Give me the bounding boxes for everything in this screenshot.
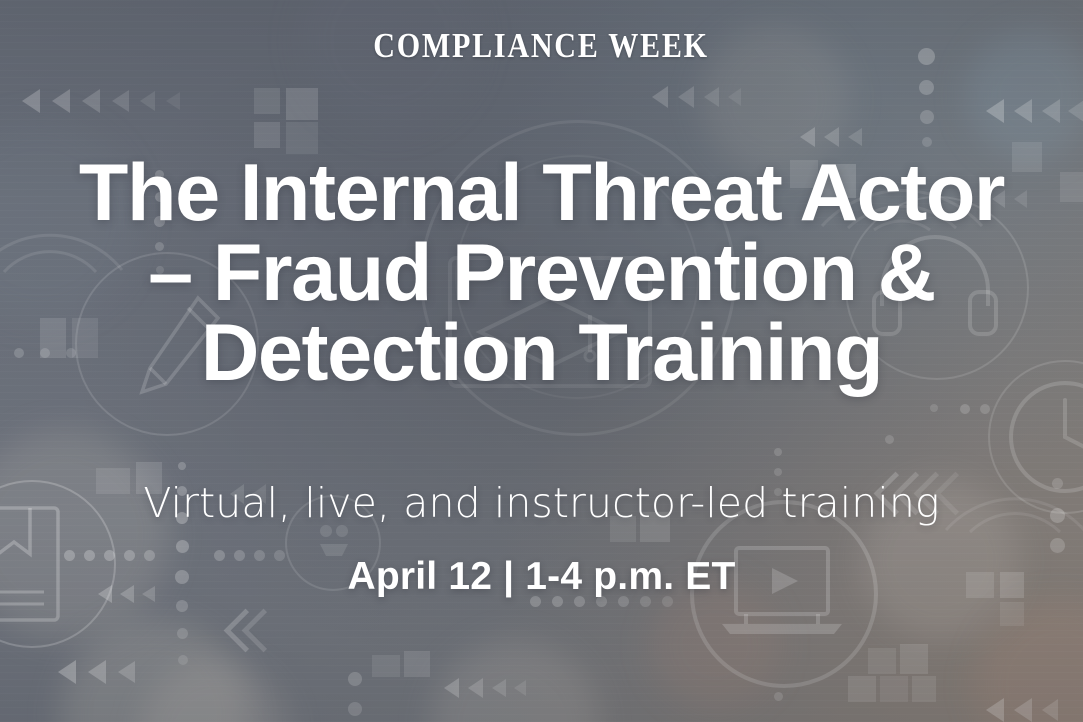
- event-date-time: April 12 | 1-4 p.m. ET: [347, 555, 735, 599]
- event-format-subtitle: Virtual, live, and instructor-led traini…: [143, 479, 939, 527]
- banner-content: COMPLIANCE WEEK The Internal Threat Acto…: [0, 0, 1083, 722]
- headline-line-3: Detection Training: [11, 314, 1073, 394]
- page-title: The Internal Threat Actor – Fraud Preven…: [11, 154, 1073, 393]
- headline-line-2: – Fraud Prevention &: [11, 234, 1073, 314]
- promo-banner: COMPLIANCE WEEK The Internal Threat Acto…: [0, 0, 1083, 722]
- compliance-week-logo: COMPLIANCE WEEK: [374, 26, 709, 66]
- headline-line-1: The Internal Threat Actor: [11, 154, 1073, 234]
